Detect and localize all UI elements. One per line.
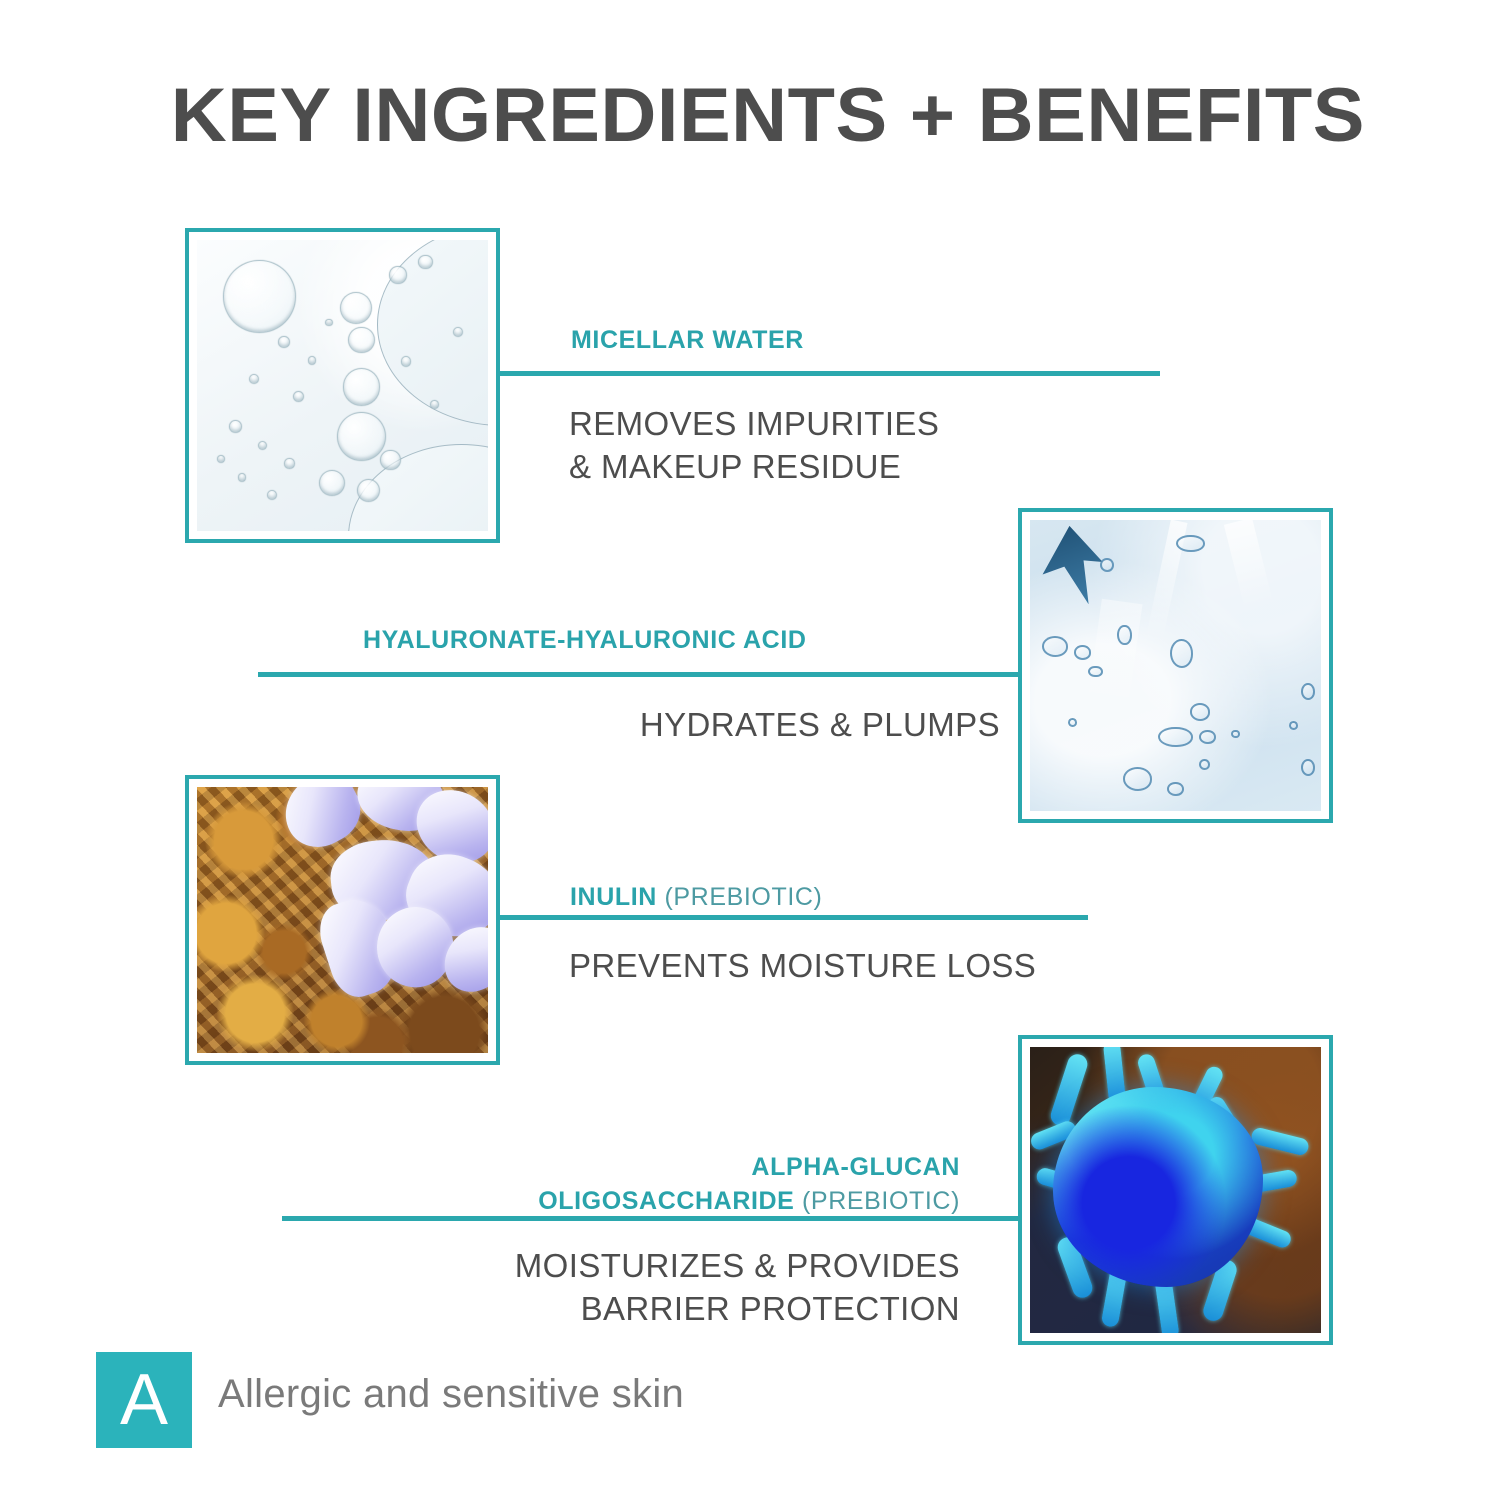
ingredient-image-micellar-water [185,228,500,543]
chicory-root-photo [197,787,488,1053]
ingredient-image-inulin [185,775,500,1065]
micellar-water-photo [197,240,488,531]
ingredient-qualifier-alpha-glucan: (PREBIOTIC) [794,1187,960,1215]
ingredient-benefit-hyaluronic-acid: HYDRATES & PLUMPS [320,704,1000,747]
allergy-badge-letter: A [96,1352,192,1448]
ingredient-benefit-inulin: PREVENTS MOISTURE LOSS [569,945,1189,988]
ingredient-name-inulin: INULIN (PREBIOTIC) [570,883,822,912]
ingredient-benefit-alpha-glucan: MOISTURIZES & PROVIDES BARRIER PROTECTIO… [330,1245,960,1331]
ingredient-name-alpha-glucan: ALPHA-GLUCAN OLIGOSACCHARIDE (PREBIOTIC) [330,1117,960,1218]
ingredient-qualifier-inulin: (PREBIOTIC) [657,883,823,911]
ingredient-name-hyaluronic-acid: HYALURONATE-HYALURONIC ACID [363,626,807,655]
connector-rule-inulin [500,915,1088,920]
allergy-badge: A [96,1352,192,1448]
page-title: KEY INGREDIENTS + BENEFITS [110,72,1426,159]
connector-rule-hyaluronic-acid [258,672,1022,677]
ingredient-name-inulin-main: INULIN [570,883,657,911]
ingredient-image-alpha-glucan [1018,1035,1333,1345]
ingredient-name-micellar-water: MICELLAR WATER [571,326,804,355]
microbe-photo [1030,1047,1321,1333]
allergy-label: Allergic and sensitive skin [218,1372,684,1417]
connector-rule-micellar-water [500,371,1160,376]
hyaluronic-acid-gel-photo [1030,520,1321,811]
ingredient-image-hyaluronic-acid [1018,508,1333,823]
ingredient-benefit-micellar-water: REMOVES IMPURITIES & MAKEUP RESIDUE [569,403,1169,489]
